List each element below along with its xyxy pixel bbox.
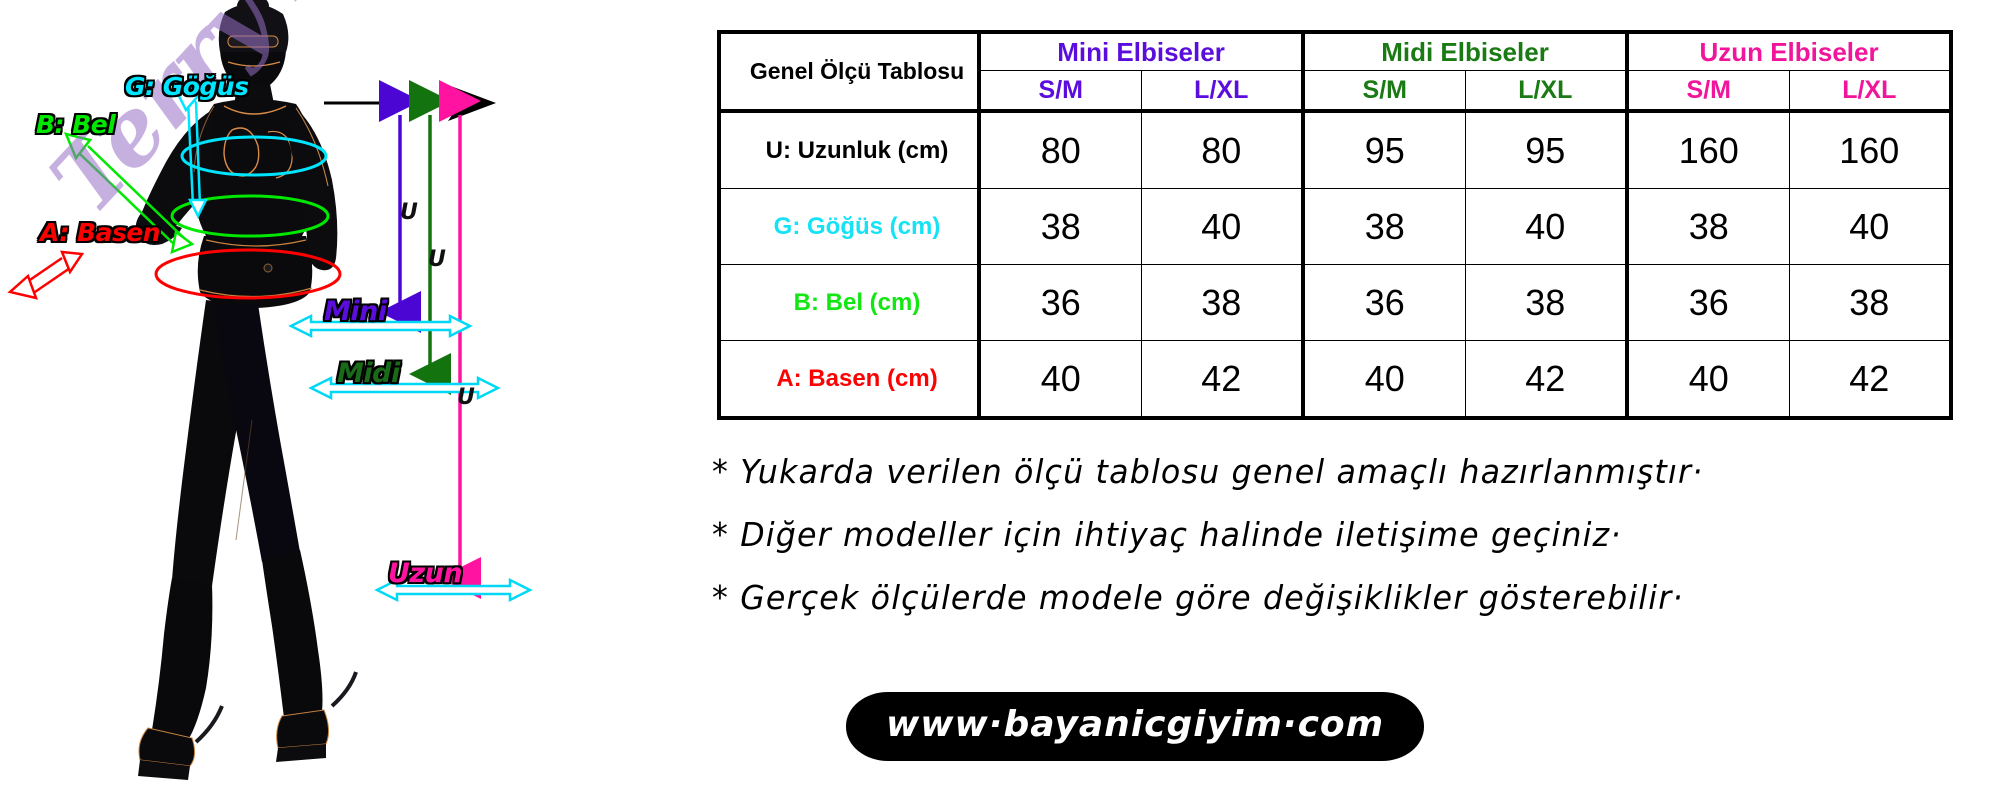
row-label-bel: B: Bel (cm) (719, 265, 979, 341)
website-url[interactable]: www·bayanicgiyim·com (846, 692, 1424, 761)
table-corner-label: Genel Ölçü Tablosu (719, 32, 979, 111)
uzun-hem-arrow (377, 580, 530, 600)
size-header-uzun-lxl: L/XL (1789, 71, 1951, 112)
cell-uzunluk-mini-sm: 80 (979, 111, 1141, 189)
size-header-uzun-sm: S/M (1627, 71, 1789, 112)
note-line-3: * Gerçek ölçülerde modele göre değişikli… (712, 578, 1950, 617)
table-row-basen: A: Basen (cm) 40 42 40 42 40 42 (719, 341, 1951, 419)
table-row-uzunluk: U: Uzunluk (cm) 80 80 95 95 160 160 (719, 111, 1951, 189)
cell-uzunluk-mini-lxl: 80 (1141, 111, 1303, 189)
cell-gogus-midi-lxl: 40 (1465, 189, 1627, 265)
model-illustration-panel: Terry Pau G: Göğüs B: Bel A: Basen Mini … (0, 0, 660, 811)
table-row-gogus: G: Göğüs (cm) 38 40 38 40 38 40 (719, 189, 1951, 265)
cell-gogus-mini-sm: 38 (979, 189, 1141, 265)
size-table-panel: Genel Ölçü Tablosu Mini Elbiseler Midi E… (660, 0, 2010, 811)
group-header-mini: Mini Elbiseler (979, 32, 1303, 71)
cell-gogus-mini-lxl: 40 (1141, 189, 1303, 265)
cell-basen-midi-lxl: 42 (1465, 341, 1627, 419)
cell-bel-midi-sm: 36 (1303, 265, 1465, 341)
table-header-group-row: Genel Ölçü Tablosu Mini Elbiseler Midi E… (719, 32, 1951, 71)
cell-basen-mini-lxl: 42 (1141, 341, 1303, 419)
cell-bel-uzun-sm: 36 (1627, 265, 1789, 341)
note-line-1: * Yukarda verilen ölçü tablosu genel ama… (712, 452, 1950, 491)
table-row-bel: B: Bel (cm) 36 38 36 38 36 38 (719, 265, 1951, 341)
row-label-uzunluk: U: Uzunluk (cm) (719, 111, 979, 189)
size-header-midi-sm: S/M (1303, 71, 1465, 112)
hip-pointer-arrow (10, 252, 82, 298)
cell-uzunluk-uzun-sm: 160 (1627, 111, 1789, 189)
cell-bel-mini-lxl: 38 (1141, 265, 1303, 341)
size-header-mini-lxl: L/XL (1141, 71, 1303, 112)
cell-bel-midi-lxl: 38 (1465, 265, 1627, 341)
notes-list: * Yukarda verilen ölçü tablosu genel ama… (712, 452, 2002, 641)
size-chart-page: Terry Pau G: Göğüs B: Bel A: Basen Mini … (0, 0, 2010, 811)
cell-basen-uzun-lxl: 42 (1789, 341, 1951, 419)
group-header-uzun: Uzun Elbiseler (1627, 32, 1951, 71)
cell-bel-mini-sm: 36 (979, 265, 1141, 341)
size-header-midi-lxl: L/XL (1465, 71, 1627, 112)
size-header-mini-sm: S/M (979, 71, 1141, 112)
midi-hem-arrow (311, 378, 498, 398)
cell-gogus-uzun-sm: 38 (1627, 189, 1789, 265)
cell-uzunluk-uzun-lxl: 160 (1789, 111, 1951, 189)
cell-basen-uzun-sm: 40 (1627, 341, 1789, 419)
cell-basen-mini-sm: 40 (979, 341, 1141, 419)
row-label-basen: A: Basen (cm) (719, 341, 979, 419)
note-line-2: * Diğer modeller için ihtiyaç halinde il… (712, 515, 1950, 554)
cell-uzunluk-midi-lxl: 95 (1465, 111, 1627, 189)
group-header-midi: Midi Elbiseler (1303, 32, 1627, 71)
figure-diagram (0, 0, 660, 811)
cell-gogus-uzun-lxl: 40 (1789, 189, 1951, 265)
row-label-gogus: G: Göğüs (cm) (719, 189, 979, 265)
cell-bel-uzun-lxl: 38 (1789, 265, 1951, 341)
website-badge-wrapper[interactable]: www·bayanicgiyim·com (846, 692, 1424, 761)
size-table: Genel Ölçü Tablosu Mini Elbiseler Midi E… (717, 30, 1953, 420)
cell-basen-midi-sm: 40 (1303, 341, 1465, 419)
cell-uzunluk-midi-sm: 95 (1303, 111, 1465, 189)
mini-hem-arrow (291, 316, 470, 336)
cell-gogus-midi-sm: 38 (1303, 189, 1465, 265)
